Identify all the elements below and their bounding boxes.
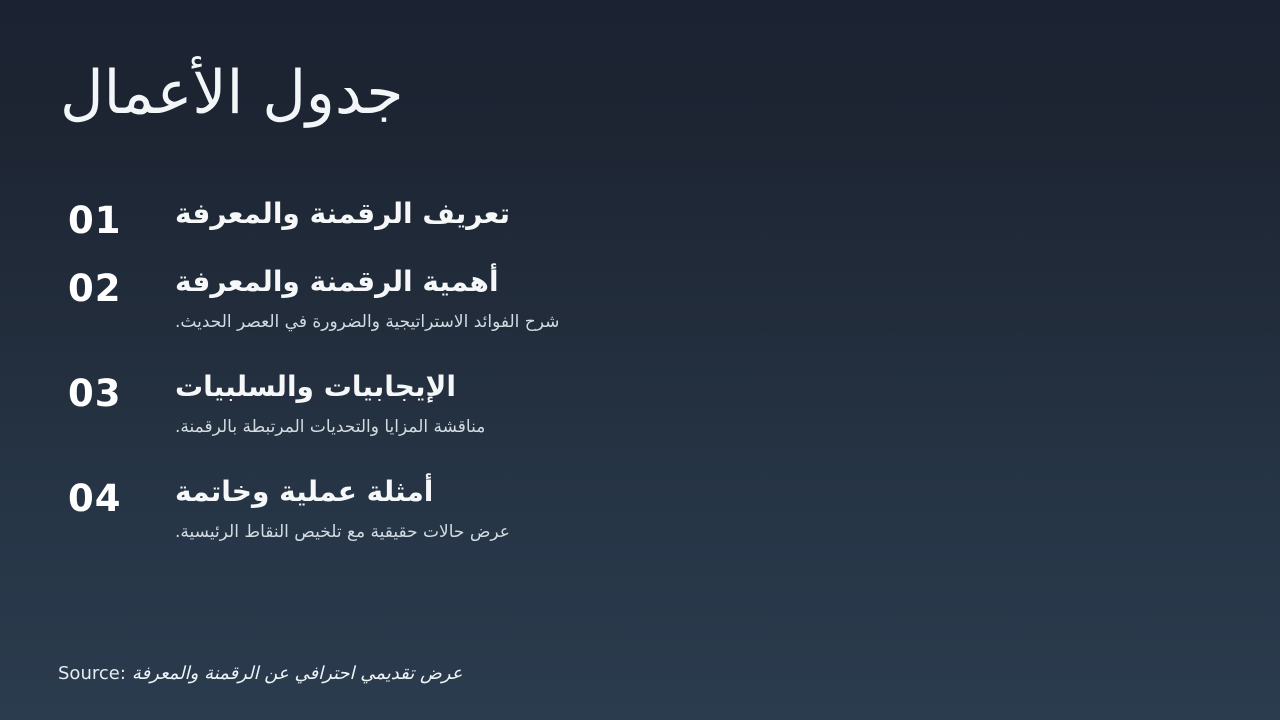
list-item[interactable]: 04 أمثلة عملية وخاتمة عرض حالات حقيقية م… <box>60 474 1160 545</box>
source-value: عرض تقديمي احترافي عن الرقمنة والمعرفة <box>132 663 463 684</box>
row-spacer <box>60 341 1160 369</box>
agenda-item-subtitle: شرح الفوائد الاستراتيجية والضرورة في الع… <box>175 311 1160 335</box>
agenda-item-body: تعريف الرقمنة والمعرفة <box>175 196 1160 231</box>
source-footer: Source: عرض تقديمي احترافي عن الرقمنة وا… <box>58 663 462 684</box>
agenda-item-number: 02 <box>60 264 175 307</box>
agenda-item-heading: تعريف الرقمنة والمعرفة <box>175 196 1160 231</box>
row-spacer <box>60 446 1160 474</box>
agenda-item-heading: أمثلة عملية وخاتمة <box>175 474 1160 509</box>
agenda-item-subtitle: مناقشة المزايا والتحديات المرتبطة بالرقم… <box>175 416 1160 440</box>
agenda-item-subtitle: عرض حالات حقيقية مع تلخيص النقاط الرئيسي… <box>175 521 1160 545</box>
list-item[interactable]: 02 أهمية الرقمنة والمعرفة شرح الفوائد ال… <box>60 264 1160 335</box>
agenda-item-number: 01 <box>60 196 175 239</box>
list-item[interactable]: 03 الإيجابيات والسلبيات مناقشة المزايا و… <box>60 369 1160 440</box>
slide-canvas: جدول الأعمال 01 تعريف الرقمنة والمعرفة 0… <box>0 0 1280 720</box>
agenda-item-heading: الإيجابيات والسلبيات <box>175 369 1160 404</box>
agenda-item-number: 04 <box>60 474 175 517</box>
list-item[interactable]: 01 تعريف الرقمنة والمعرفة <box>60 196 1160 240</box>
agenda-item-body: أهمية الرقمنة والمعرفة شرح الفوائد الاست… <box>175 264 1160 335</box>
source-label: Source: <box>58 663 126 684</box>
page-title: جدول الأعمال <box>60 60 403 126</box>
agenda-item-heading: أهمية الرقمنة والمعرفة <box>175 264 1160 299</box>
agenda-item-body: أمثلة عملية وخاتمة عرض حالات حقيقية مع ت… <box>175 474 1160 545</box>
agenda-list: 01 تعريف الرقمنة والمعرفة 02 أهمية الرقم… <box>60 196 1160 550</box>
agenda-item-body: الإيجابيات والسلبيات مناقشة المزايا والت… <box>175 369 1160 440</box>
agenda-item-number: 03 <box>60 369 175 412</box>
title-block: جدول الأعمال <box>60 48 1220 138</box>
